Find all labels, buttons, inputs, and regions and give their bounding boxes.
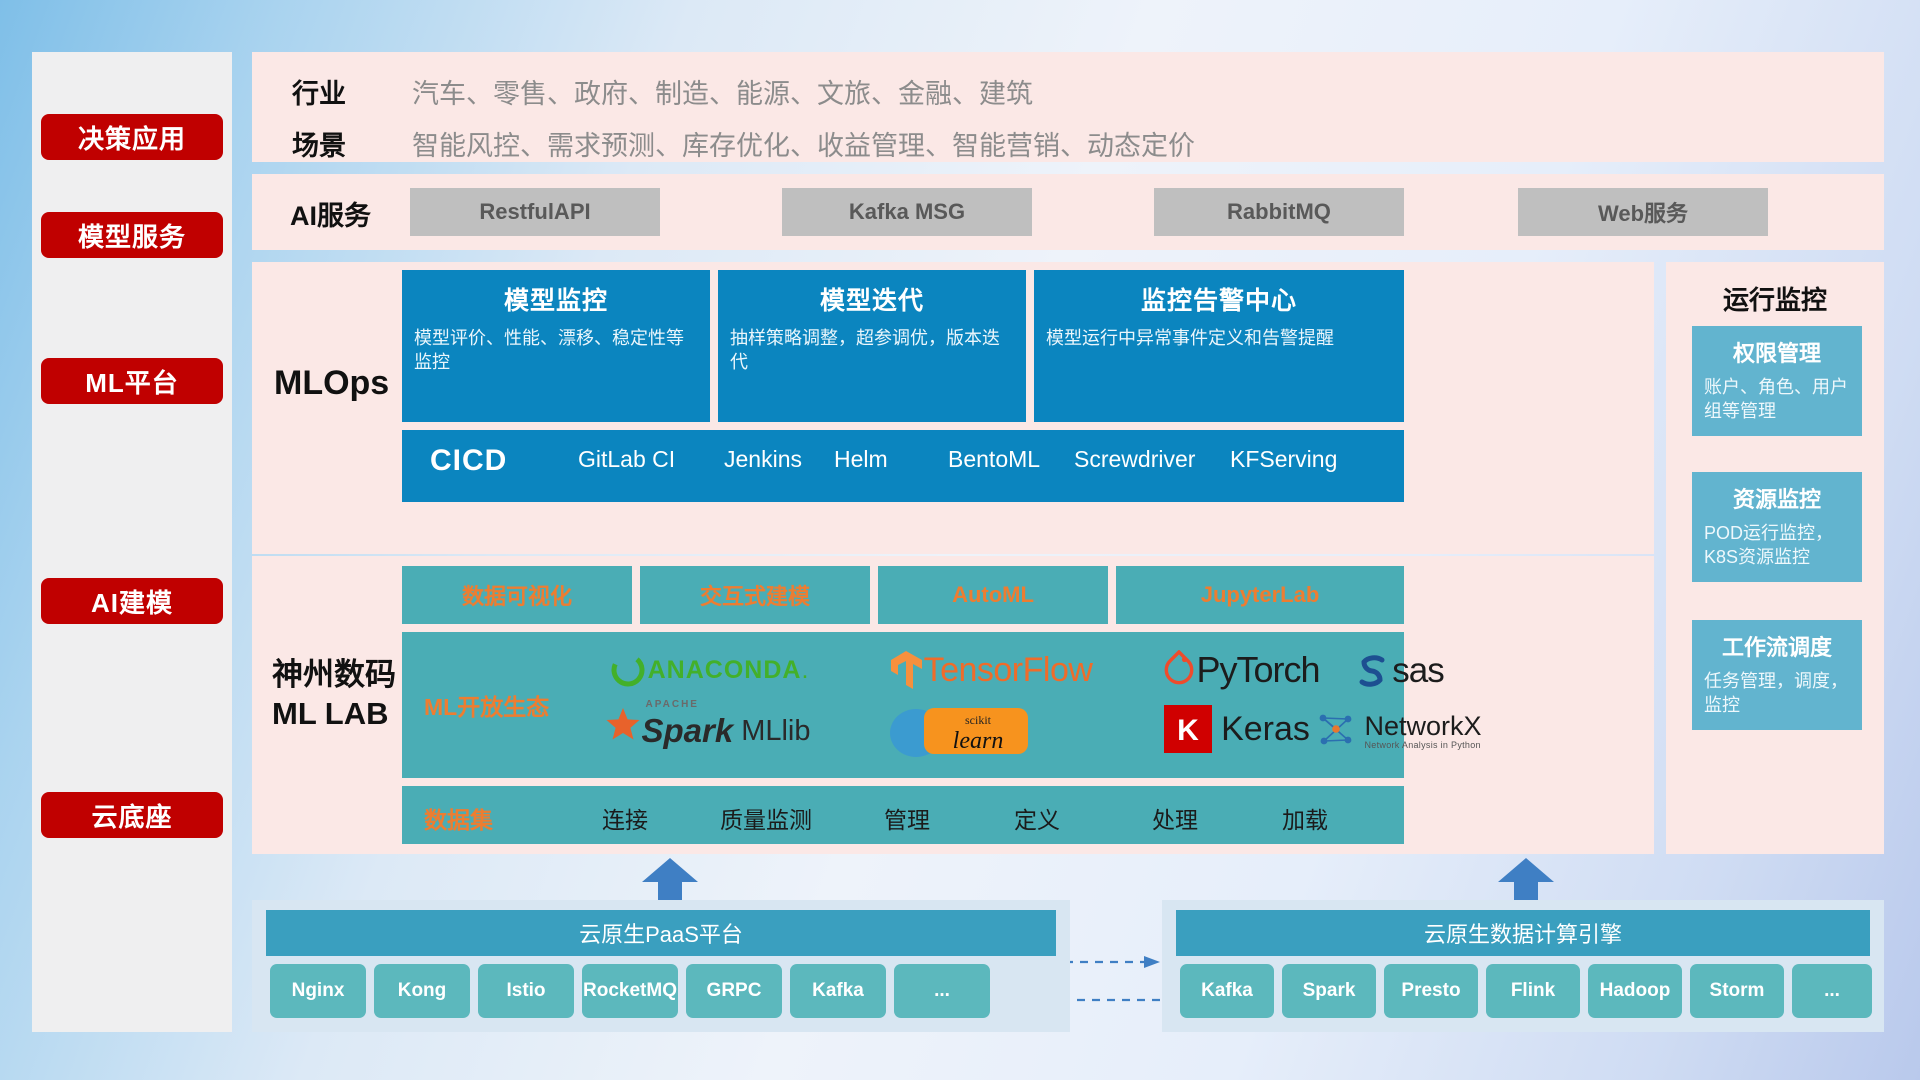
card-desc: 任务管理，调度，监控: [1692, 662, 1862, 718]
tab-label: 数据可视化: [462, 579, 572, 611]
rail-item-decision-app[interactable]: 决策应用: [41, 114, 223, 160]
tile-label: Istio: [506, 980, 545, 1001]
mllab-ecosystem-row: ML开放生态 ANACONDA. APACHE Spark MLlib: [402, 632, 1404, 778]
tensorflow-logo: TensorFlow: [840, 644, 1140, 696]
svg-text:K: K: [1177, 714, 1199, 747]
left-stage-rail: 决策应用 模型服务 ML平台 AI建模 云底座: [32, 52, 232, 1032]
rail-item-ml-platform[interactable]: ML平台: [41, 358, 223, 404]
tile-label: Spark: [1303, 980, 1356, 1001]
monitor-card-permission[interactable]: 权限管理 账户、角色、用户组等管理: [1692, 326, 1862, 436]
sas-logo: sas: [1302, 646, 1492, 696]
tile-label: GRPC: [707, 980, 762, 1001]
rail-label: AI建模: [91, 583, 173, 620]
dataset-item-process[interactable]: 处理: [1152, 801, 1198, 835]
tile-label: ...: [1824, 980, 1840, 1001]
ai-service-chip-restfulapi[interactable]: RestfulAPI: [410, 188, 660, 236]
networkx-logo: NetworkX Network Analysis in Python: [1278, 700, 1518, 762]
tile-label: ...: [934, 980, 950, 1001]
mllab-panel: 神州数码 ML LAB 数据可视化 交互式建模 AutoML JupyterLa…: [252, 556, 1654, 854]
chip-label: RabbitMQ: [1227, 199, 1331, 225]
chip-label: Web服务: [1598, 196, 1688, 228]
engine-tile-kafka[interactable]: Kafka: [1180, 964, 1274, 1018]
chip-label: Kafka MSG: [849, 199, 965, 225]
dataset-item-manage[interactable]: 管理: [884, 801, 930, 835]
tile-label: Kafka: [812, 980, 864, 1001]
tile-label: Presto: [1401, 980, 1460, 1001]
cicd-item-helm[interactable]: Helm: [834, 445, 939, 474]
monitor-title: 运行监控: [1666, 280, 1884, 317]
rail-item-model-service[interactable]: 模型服务: [41, 212, 223, 258]
ai-service-chip-rabbitmq[interactable]: RabbitMQ: [1154, 188, 1404, 236]
tile-label: RocketMQ: [583, 980, 677, 1001]
tab-label: 交互式建模: [700, 579, 810, 611]
mlops-panel: MLOps 模型监控 模型评价、性能、漂移、稳定性等监控 模型迭代 抽样策略调整…: [252, 262, 1654, 554]
tile-label: Storm: [1710, 980, 1765, 1001]
cicd-item-jenkins[interactable]: Jenkins: [724, 445, 829, 474]
tile-label: Flink: [1511, 980, 1555, 1001]
mllab-label-line2: ML LAB: [272, 695, 396, 734]
paas-tile-kong[interactable]: Kong: [374, 964, 470, 1018]
rail-item-cloud-base[interactable]: 云底座: [41, 792, 223, 838]
card-title: 资源监控: [1692, 472, 1862, 514]
dataset-label: 数据集: [424, 801, 493, 835]
paas-tile-istio[interactable]: Istio: [478, 964, 574, 1018]
cicd-item-screwdriver[interactable]: Screwdriver: [1074, 445, 1179, 474]
monitor-card-resource[interactable]: 资源监控 POD运行监控，K8S资源监控: [1692, 472, 1862, 582]
card-title: 监控告警中心: [1034, 270, 1404, 317]
card-title: 模型监控: [402, 270, 710, 317]
mllab-label-line1: 神州数码: [272, 656, 396, 695]
tile-label: Kafka: [1201, 980, 1253, 1001]
cicd-item-gitlab-ci[interactable]: GitLab CI: [578, 445, 683, 474]
svg-text:learn: learn: [953, 728, 1004, 754]
cicd-strip: CICD GitLab CI Jenkins Helm BentoML Scre…: [402, 430, 1404, 502]
cicd-label: CICD: [430, 444, 507, 478]
tile-label: Kong: [398, 980, 447, 1001]
scikit-learn-logo: scikit learn: [854, 700, 1074, 762]
mllab-tab-interactive-modeling[interactable]: 交互式建模: [640, 566, 870, 624]
mllab-tab-automl[interactable]: AutoML: [878, 566, 1108, 624]
paas-tile-rocketmq[interactable]: RocketMQ: [582, 964, 678, 1018]
paas-tile-nginx[interactable]: Nginx: [270, 964, 366, 1018]
ai-service-chip-kafka-msg[interactable]: Kafka MSG: [782, 188, 1032, 236]
scenario-label: 场景: [292, 124, 346, 163]
card-title: 工作流调度: [1692, 620, 1862, 662]
svg-text:scikit: scikit: [965, 713, 992, 727]
engine-tile-presto[interactable]: Presto: [1384, 964, 1478, 1018]
dataset-item-load[interactable]: 加载: [1282, 801, 1328, 835]
mllab-tab-jupyterlab[interactable]: JupyterLab: [1116, 566, 1404, 624]
tab-label: JupyterLab: [1201, 582, 1320, 608]
engine-tile-hadoop[interactable]: Hadoop: [1588, 964, 1682, 1018]
mllab-tab-data-visualization[interactable]: 数据可视化: [402, 566, 632, 624]
tile-label: Nginx: [292, 980, 345, 1001]
rail-label: ML平台: [85, 363, 179, 400]
scenario-value: 智能风控、需求预测、库存优化、收益管理、智能营销、动态定价: [412, 124, 1195, 163]
dataset-item-quality[interactable]: 质量监测: [720, 801, 812, 835]
engine-tile-more[interactable]: ...: [1792, 964, 1872, 1018]
engine-tile-flink[interactable]: Flink: [1486, 964, 1580, 1018]
paas-container: 云原生PaaS平台 Nginx Kong Istio RocketMQ GRPC…: [252, 900, 1070, 1032]
dataset-item-define[interactable]: 定义: [1014, 801, 1060, 835]
arrow-up-data-engine: [1496, 858, 1556, 906]
card-desc: 模型运行中异常事件定义和告警提醒: [1034, 317, 1404, 350]
data-engine-bar: 云原生数据计算引擎: [1176, 910, 1870, 956]
ai-service-chip-web-service[interactable]: Web服务: [1518, 188, 1768, 236]
mllab-dataset-row: 数据集 连接 质量监测 管理 定义 处理 加载: [402, 786, 1404, 844]
arrow-up-paas: [640, 858, 700, 906]
ai-service-panel: AI服务 RestfulAPI Kafka MSG RabbitMQ Web服务: [252, 174, 1884, 250]
tile-label: Hadoop: [1600, 980, 1671, 1001]
business-panel: 行业 汽车、零售、政府、制造、能源、文旅、金融、建筑 场景 智能风控、需求预测、…: [252, 52, 1884, 162]
engine-tile-storm[interactable]: Storm: [1690, 964, 1784, 1018]
tab-label: AutoML: [952, 582, 1034, 608]
mlops-label: MLOps: [274, 364, 389, 403]
card-title: 权限管理: [1692, 326, 1862, 368]
card-desc: 模型评价、性能、漂移、稳定性等监控: [402, 317, 710, 375]
card-title: 模型迭代: [718, 270, 1026, 317]
cicd-item-bentoml[interactable]: BentoML: [948, 445, 1053, 474]
card-desc: POD运行监控，K8S资源监控: [1692, 514, 1862, 570]
rail-label: 云底座: [91, 797, 172, 834]
mlops-card-alert-center[interactable]: 监控告警中心 模型运行中异常事件定义和告警提醒: [1034, 270, 1404, 422]
paas-tile-grpc[interactable]: GRPC: [686, 964, 782, 1018]
chip-label: RestfulAPI: [479, 199, 590, 225]
rail-label: 决策应用: [78, 119, 186, 156]
rail-label: 模型服务: [78, 217, 186, 254]
data-engine-container: 云原生数据计算引擎 Kafka Spark Presto Flink Hadoo…: [1162, 900, 1884, 1032]
card-desc: 账户、角色、用户组等管理: [1692, 368, 1862, 424]
ecosystem-label: ML开放生态: [424, 688, 549, 722]
spark-mllib-logo: APACHE Spark MLlib: [572, 700, 842, 762]
mlops-card-model-monitoring[interactable]: 模型监控 模型评价、性能、漂移、稳定性等监控: [402, 270, 710, 422]
monitor-card-workflow[interactable]: 工作流调度 任务管理，调度，监控: [1692, 620, 1862, 730]
paas-tile-kafka[interactable]: Kafka: [790, 964, 886, 1018]
dataset-item-connect[interactable]: 连接: [602, 801, 648, 835]
mllab-label: 神州数码 ML LAB: [272, 656, 396, 734]
paas-tile-more[interactable]: ...: [894, 964, 990, 1018]
monitor-panel: 运行监控 权限管理 账户、角色、用户组等管理 资源监控 POD运行监控，K8S资…: [1666, 262, 1884, 854]
cicd-item-kfserving[interactable]: KFServing: [1230, 445, 1335, 474]
paas-bar: 云原生PaaS平台: [266, 910, 1056, 956]
industry-label: 行业: [292, 72, 346, 111]
anaconda-logo: ANACONDA.: [578, 646, 838, 694]
ai-service-label: AI服务: [290, 194, 371, 233]
industry-value: 汽车、零售、政府、制造、能源、文旅、金融、建筑: [412, 72, 1033, 111]
engine-tile-spark[interactable]: Spark: [1282, 964, 1376, 1018]
mlops-card-model-iteration[interactable]: 模型迭代 抽样策略调整，超参调优，版本迭代: [718, 270, 1026, 422]
rail-item-ai-modeling[interactable]: AI建模: [41, 578, 223, 624]
paas-bar-label: 云原生PaaS平台: [579, 917, 743, 949]
card-desc: 抽样策略调整，超参调优，版本迭代: [718, 317, 1026, 375]
data-engine-bar-label: 云原生数据计算引擎: [1424, 917, 1622, 949]
